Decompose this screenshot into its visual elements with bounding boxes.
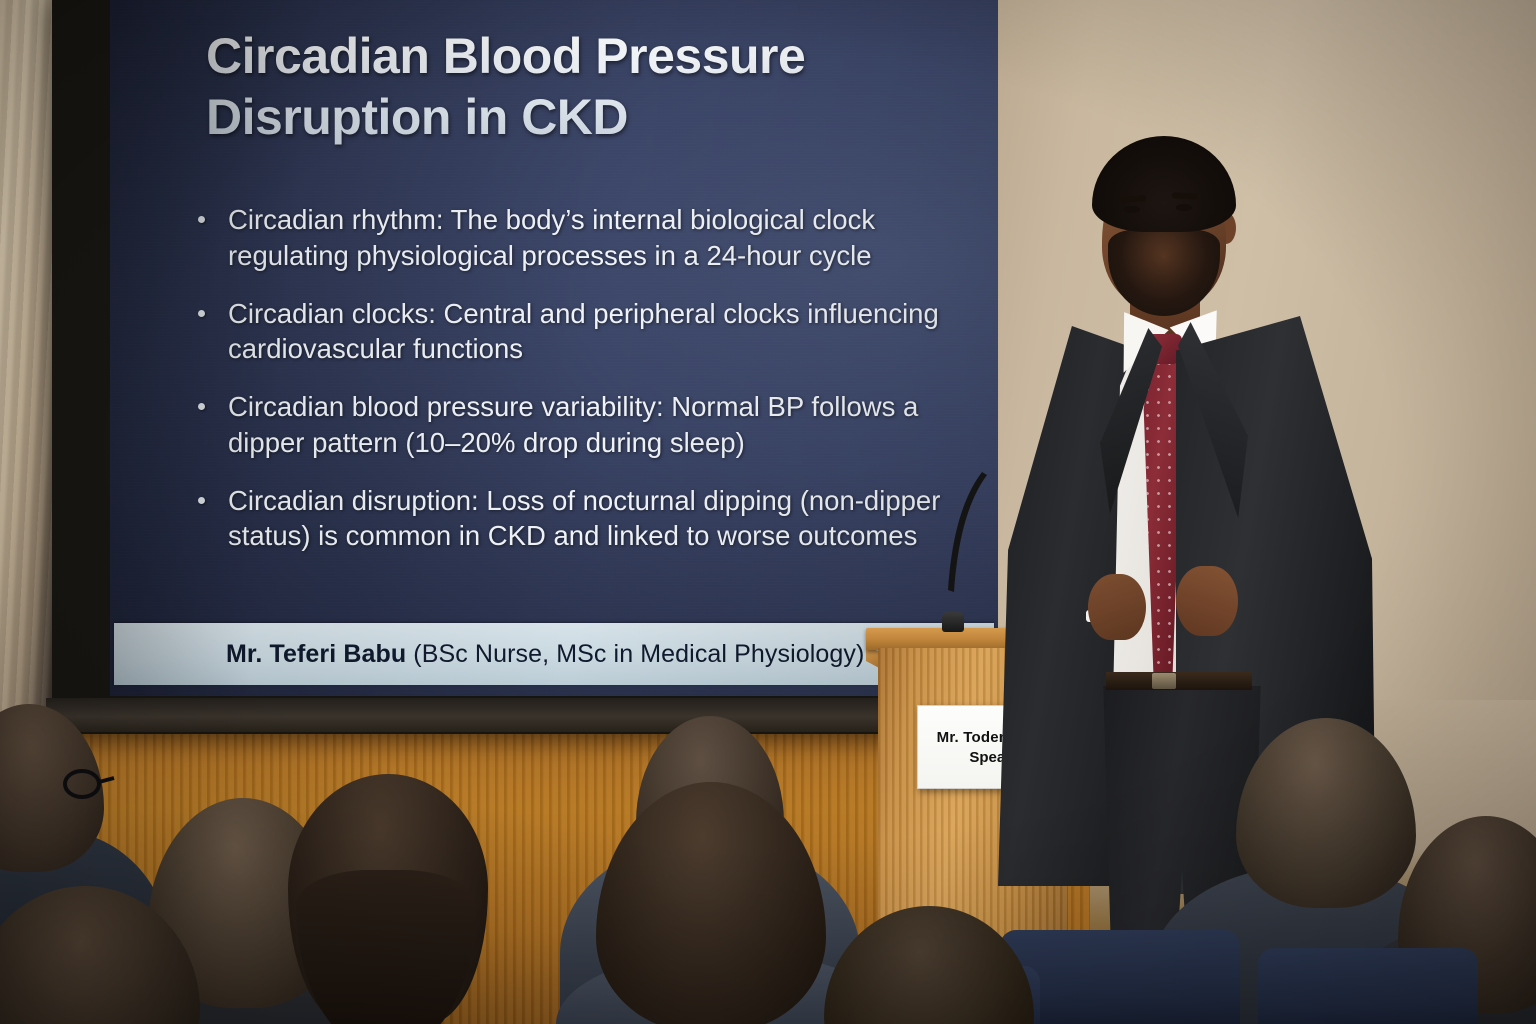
- beard: [1108, 230, 1220, 316]
- slide-footer-text: Mr. Teferi Babu (BSc Nurse, MSc in Medic…: [226, 640, 864, 669]
- eye-left: [1124, 206, 1140, 213]
- bullet-dot-icon: [198, 403, 205, 410]
- slide-footer-bar: Mr. Teferi Babu (BSc Nurse, MSc in Medic…: [114, 623, 994, 685]
- hair: [1092, 136, 1236, 232]
- belt-buckle: [1152, 673, 1176, 689]
- audience-member-head: [824, 906, 1034, 1024]
- bullet-text: Circadian clocks: Central and peripheral…: [228, 298, 939, 365]
- presenter-name: Mr. Teferi Babu: [226, 640, 406, 668]
- belt: [1106, 672, 1252, 690]
- audience-member-head: [1236, 718, 1416, 908]
- eye-right: [1176, 204, 1192, 211]
- bullet-dot-icon: [198, 310, 205, 317]
- projection-screen-frame: Circadian Blood Pressure Disruption in C…: [52, 0, 958, 734]
- presentation-slide: Circadian Blood Pressure Disruption in C…: [110, 0, 998, 696]
- slide-title: Circadian Blood Pressure Disruption in C…: [206, 26, 966, 148]
- microphone-base: [942, 612, 964, 632]
- hand-right: [1176, 566, 1238, 636]
- bullet-item: Circadian blood pressure variability: No…: [184, 389, 984, 461]
- slide-title-line-2: Disruption in CKD: [206, 87, 966, 148]
- bullet-text: Circadian rhythm: The body’s internal bi…: [228, 204, 875, 271]
- audience-member-hair: [296, 870, 476, 1024]
- bullet-item: Circadian rhythm: The body’s internal bi…: [184, 202, 984, 274]
- bullet-item: Circadian clocks: Central and peripheral…: [184, 296, 984, 368]
- slide-title-line-1: Circadian Blood Pressure: [206, 26, 966, 87]
- auditorium-seat: [1258, 948, 1478, 1024]
- eyebrow-right: [1172, 192, 1198, 199]
- bullet-text: Circadian blood pressure variability: No…: [228, 391, 918, 458]
- bullet-dot-icon: [198, 216, 205, 223]
- bullet-dot-icon: [198, 497, 205, 504]
- bullet-text: Circadian disruption: Loss of nocturnal …: [228, 485, 940, 552]
- hand-left: [1088, 574, 1146, 640]
- audience-member-head: [596, 782, 826, 1024]
- lecture-hall-room: Circadian Blood Pressure Disruption in C…: [0, 0, 1536, 1024]
- presenter-credentials: (BSc Nurse, MSc in Medical Physiology): [406, 640, 864, 668]
- slide-bullet-list: Circadian rhythm: The body’s internal bi…: [184, 202, 984, 576]
- audience: [0, 690, 1536, 1024]
- eyeglasses-icon: [60, 768, 116, 802]
- bullet-item: Circadian disruption: Loss of nocturnal …: [184, 483, 984, 555]
